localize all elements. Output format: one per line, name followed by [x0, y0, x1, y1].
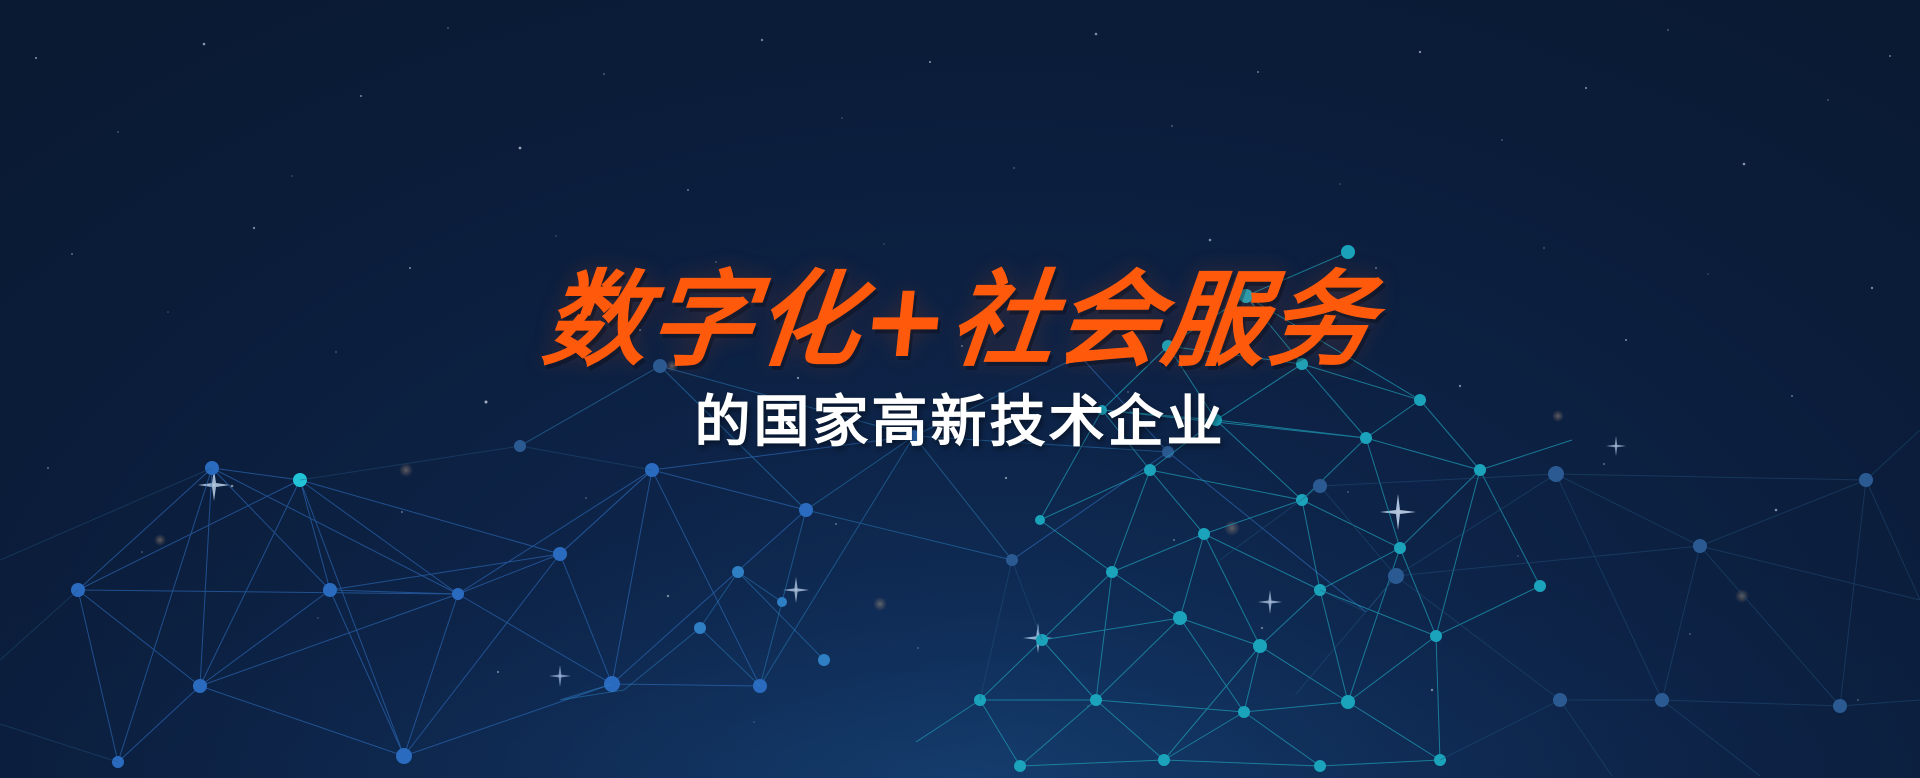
mesh-mid-sparse	[560, 566, 830, 700]
mesh-right-cluster	[1220, 466, 1920, 776]
mesh-center-teal-cluster	[916, 245, 1572, 772]
network-mesh-graphic: .ln { stroke:#2f6fbf; stroke-width:1; fi…	[0, 0, 1920, 778]
mesh-left-cluster	[71, 350, 1366, 768]
hero-banner: .ln { stroke:#2f6fbf; stroke-width:1; fi…	[0, 0, 1920, 778]
mesh-filaments	[0, 366, 1920, 762]
